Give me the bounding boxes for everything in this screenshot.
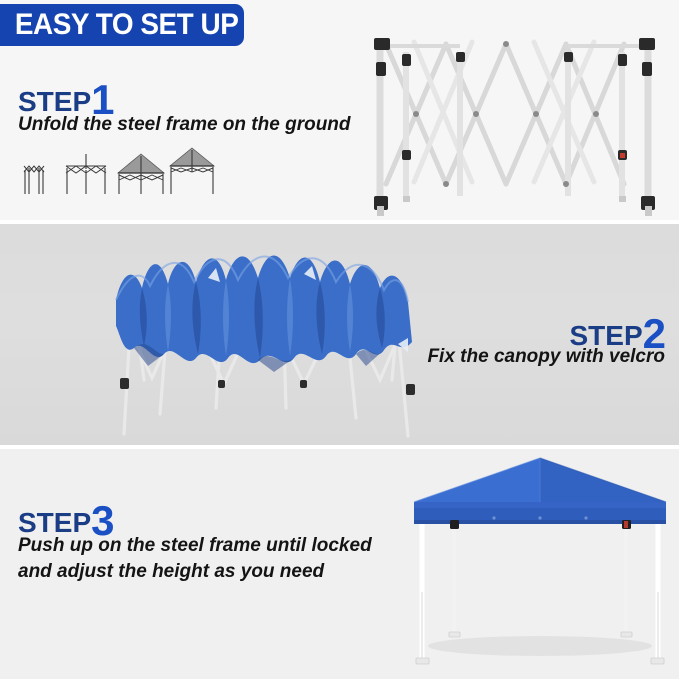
steel-frame-illustration [356, 24, 672, 220]
step-3-description-line-2: and adjust the height as you need [18, 559, 372, 585]
red-pin-accent [620, 153, 625, 158]
canopy-raised-icon [170, 148, 214, 194]
steel-frame-svg [356, 24, 672, 220]
frame-folded-icon [24, 166, 44, 194]
setup-progression-icons [16, 146, 216, 198]
canopy-low-icon [118, 154, 164, 194]
assembled-tent-svg [404, 450, 676, 678]
step-3-description-line-1: Push up on the steel frame until locked [18, 533, 372, 559]
step-2-description: Fix the canopy with velcro [427, 344, 665, 370]
step-3-description: Push up on the steel frame until locked … [18, 533, 372, 584]
assembled-tent-illustration [404, 450, 676, 678]
draped-canopy-svg [108, 238, 438, 440]
step-1-band: EASY TO SET UP STEP1 Unfold the steel fr… [0, 0, 679, 220]
header-banner: EASY TO SET UP [0, 4, 244, 46]
easy-to-set-up-infographic: EASY TO SET UP STEP1 Unfold the steel fr… [0, 0, 679, 679]
draped-canopy-illustration [108, 238, 438, 440]
canopy-fabric [116, 255, 412, 372]
step-1-description: Unfold the steel frame on the ground [18, 112, 351, 138]
step-1-icon-sequence [16, 146, 216, 198]
header-banner-title: EASY TO SET UP [0, 10, 238, 40]
frame-partially-open-icon [66, 154, 106, 194]
